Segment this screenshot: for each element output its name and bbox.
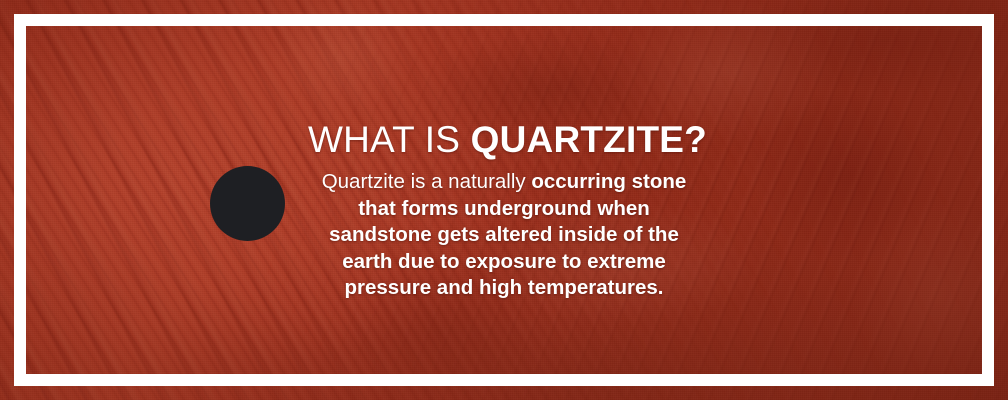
quartzite-banner: WHAT IS QUARTZITE? Quartzite is a natura… — [0, 0, 1008, 400]
dark-circle-accent — [210, 166, 285, 241]
headline-bold-text: QUARTZITE? — [471, 119, 707, 160]
headline-light-text: WHAT IS — [308, 119, 471, 160]
description-regular-text: Quartzite is a naturally — [322, 170, 532, 193]
page-title: WHAT IS QUARTZITE? — [308, 120, 700, 160]
banner-content: WHAT IS QUARTZITE? Quartzite is a natura… — [308, 120, 700, 302]
banner-description: Quartzite is a naturally occurring stone… — [308, 169, 700, 302]
